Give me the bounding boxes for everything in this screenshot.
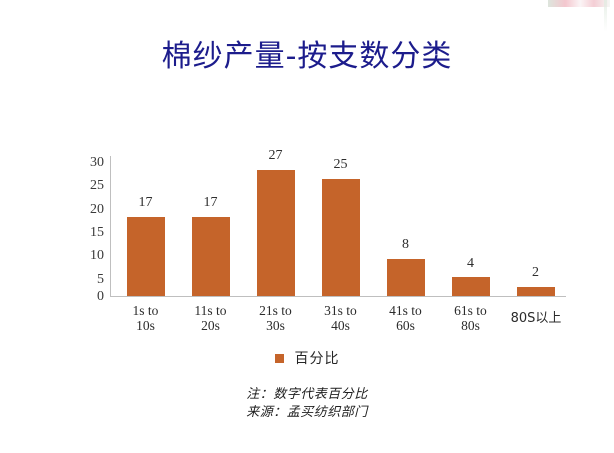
- y-axis-tick: 5: [72, 273, 104, 287]
- x-axis-category-line: 60s: [373, 318, 438, 333]
- bar-value-label: 8: [373, 238, 438, 252]
- x-axis-category-line: 80S以上: [490, 311, 582, 326]
- bar-value-label: 17: [178, 196, 243, 210]
- x-axis-line: [110, 296, 566, 297]
- legend-item[interactable]: 百分比: [275, 350, 340, 368]
- legend-label: 百分比: [295, 351, 340, 367]
- bar-value-label: 27: [243, 149, 308, 163]
- plot-area: 17 17 27 25 8 4: [110, 156, 566, 297]
- x-axis-category-line: 11s to: [178, 303, 243, 318]
- y-axis-tick: 15: [72, 226, 104, 240]
- scan-artifact-edge: [604, 0, 607, 32]
- x-axis-category-line: 40s: [308, 318, 373, 333]
- x-axis-category-label: 1s to 10s: [113, 303, 178, 333]
- note-line-2: 来源：孟买纺织部门: [0, 404, 614, 422]
- x-axis-category-line: 10s: [113, 318, 178, 333]
- scan-artifact: [548, 0, 610, 7]
- page-title: 棉纱产量-按支数分类: [0, 38, 614, 76]
- bar-value-label: 17: [113, 196, 178, 210]
- bar-series: 17 17 27 25 8 4: [110, 156, 566, 296]
- chart-notes: 注：数字代表百分比 来源：孟买纺织部门: [0, 386, 614, 422]
- y-axis-tick: 30: [72, 156, 104, 170]
- x-axis-category-line: 31s to: [308, 303, 373, 318]
- bar[interactable]: [127, 217, 165, 296]
- bar[interactable]: [387, 259, 425, 296]
- x-axis-category-label: 41s to 60s: [373, 303, 438, 333]
- x-axis-category-line: 1s to: [113, 303, 178, 318]
- bar[interactable]: [322, 179, 360, 296]
- legend-swatch-icon: [275, 354, 284, 363]
- slide-canvas: 棉纱产量-按支数分类 30 25 20 15 10 5 0 17 17 27: [0, 0, 614, 453]
- x-axis-labels: 1s to 10s 11s to 20s 21s to 30s 31s to 4…: [110, 303, 566, 343]
- x-axis-category-label: 80S以上: [490, 311, 582, 326]
- chart-legend: 百分比: [0, 350, 614, 368]
- y-axis-tick: 20: [72, 203, 104, 217]
- bar-value-label: 4: [438, 257, 503, 271]
- bar-slot: 17: [113, 156, 178, 296]
- bar-slot: 27: [243, 156, 308, 296]
- y-axis-tick: 0: [72, 290, 104, 304]
- x-axis-category-label: 21s to 30s: [243, 303, 308, 333]
- y-axis-labels: 30 25 20 15 10 5 0: [72, 156, 104, 297]
- bar-slot: 4: [438, 156, 503, 296]
- bar[interactable]: [517, 287, 555, 296]
- bar[interactable]: [257, 170, 295, 296]
- x-axis-category-label: 31s to 40s: [308, 303, 373, 333]
- note-line-1: 注：数字代表百分比: [0, 386, 614, 404]
- y-axis-tick: 25: [72, 179, 104, 193]
- x-axis-category-line: 41s to: [373, 303, 438, 318]
- bar[interactable]: [192, 217, 230, 296]
- bar-value-label: 2: [503, 266, 568, 280]
- bar-slot: 25: [308, 156, 373, 296]
- bar[interactable]: [452, 277, 490, 296]
- bar-slot: 8: [373, 156, 438, 296]
- y-axis-tick: 10: [72, 249, 104, 263]
- bar-slot: 17: [178, 156, 243, 296]
- bar-value-label: 25: [308, 158, 373, 172]
- bar-slot: 2: [503, 156, 568, 296]
- x-axis-category-line: 20s: [178, 318, 243, 333]
- x-axis-category-line: 30s: [243, 318, 308, 333]
- x-axis-category-line: 21s to: [243, 303, 308, 318]
- x-axis-category-label: 11s to 20s: [178, 303, 243, 333]
